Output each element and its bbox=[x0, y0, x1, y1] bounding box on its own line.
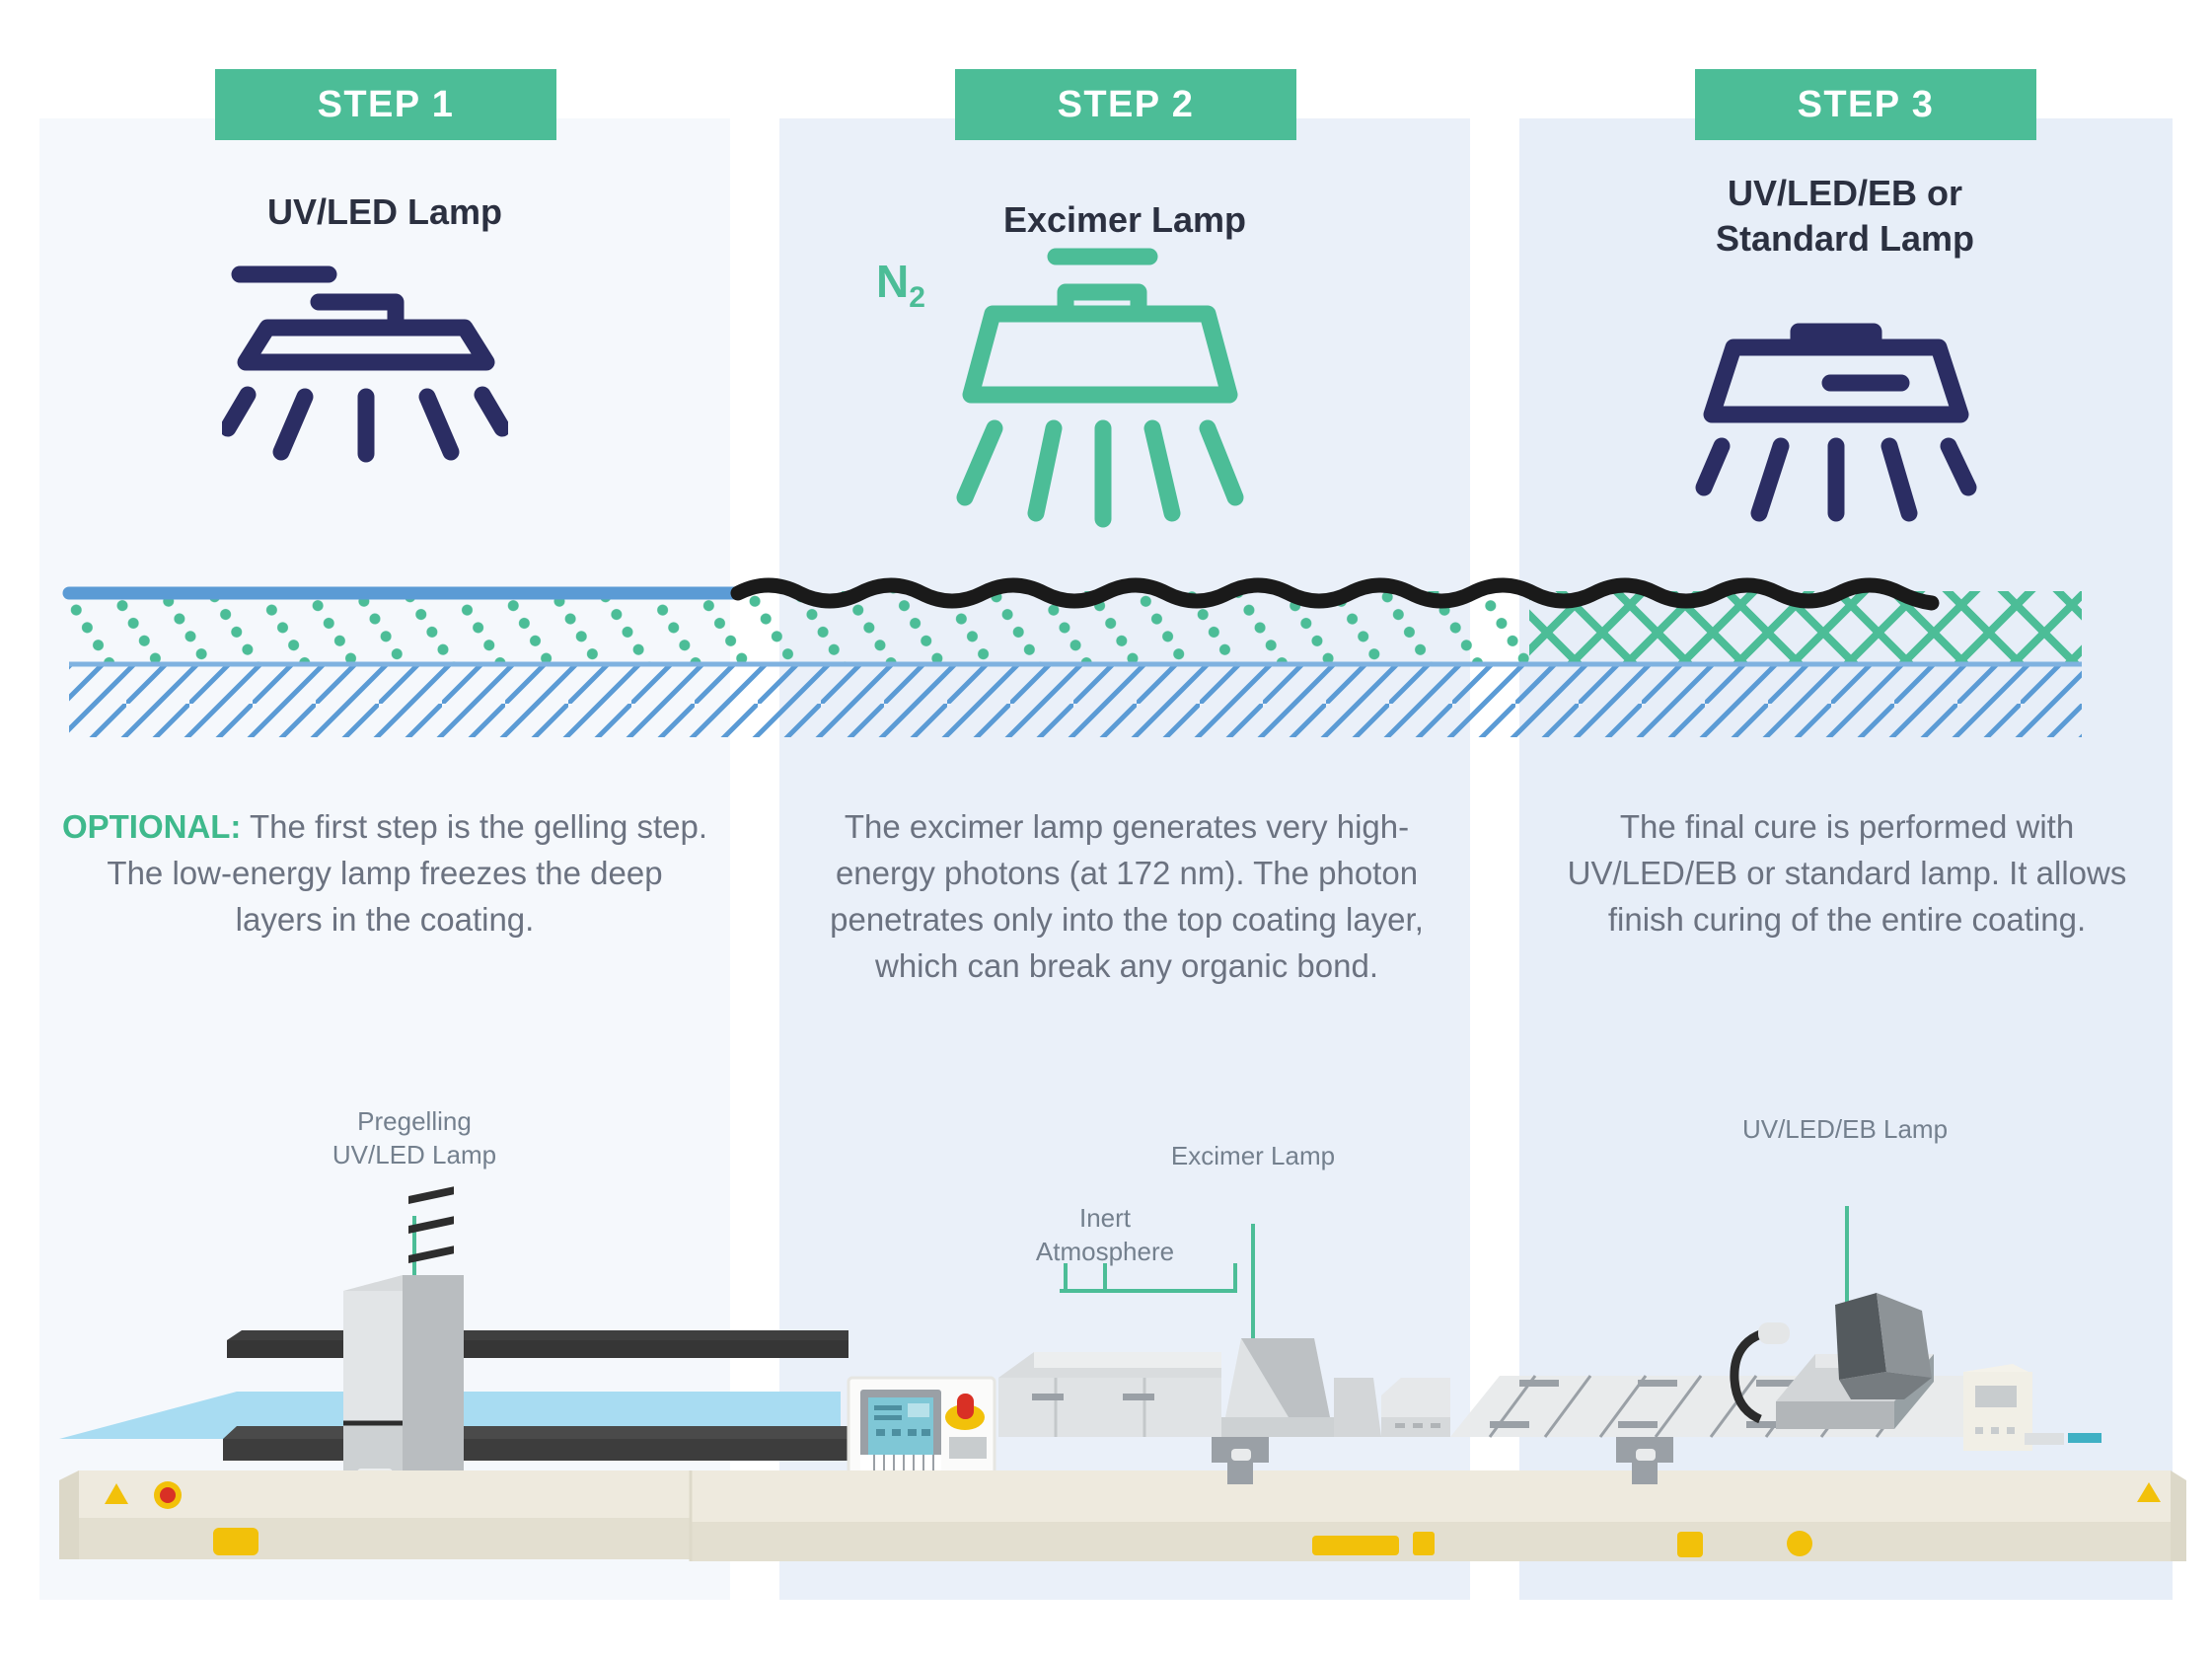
uv-led-eb-lamp-icon bbox=[1692, 308, 1988, 550]
yellow-indicator bbox=[213, 1528, 258, 1555]
production-line-illustration bbox=[0, 1184, 2212, 1599]
optional-label: OPTIONAL: bbox=[62, 808, 241, 845]
infographic-root: STEP 1 STEP 2 STEP 3 UV/LED Lamp Excimer… bbox=[0, 0, 2212, 1659]
pregelling-lamp-head bbox=[343, 1186, 464, 1490]
uv-led-lamp-icon bbox=[222, 259, 508, 490]
callout-pregelling-line1: Pregelling bbox=[357, 1106, 472, 1136]
step-3-description: The final cure is performed with UV/LED/… bbox=[1531, 804, 2163, 943]
nitrogen-gas-label: N2 bbox=[876, 255, 925, 315]
inert-atmosphere-chamber bbox=[998, 1352, 1221, 1437]
step-2-heading: Excimer Lamp bbox=[779, 197, 1470, 243]
callout-uv-led-eb-lamp: UV/LED/EB Lamp bbox=[1658, 1113, 2032, 1147]
step-3-heading: UV/LED/EB orStandard Lamp bbox=[1500, 171, 2190, 262]
callout-pregelling-line2: UV/LED Lamp bbox=[332, 1140, 496, 1169]
callout-pregelling-lamp: Pregelling UV/LED Lamp bbox=[247, 1105, 582, 1172]
step-2-badge: STEP 2 bbox=[955, 69, 1296, 140]
step-2-description: The excimer lamp generates very high-ene… bbox=[801, 804, 1452, 989]
step-1-description: OPTIONAL: The first step is the gelling … bbox=[59, 804, 710, 943]
uv-led-eb-lamp-head bbox=[1835, 1293, 1932, 1399]
panel-keypad bbox=[860, 1455, 941, 1470]
excimer-lamp-icon bbox=[949, 239, 1245, 540]
coating-cross-section-diagram bbox=[0, 577, 2212, 775]
end-cabinet bbox=[1963, 1364, 2101, 1451]
step-1-heading: UV/LED Lamp bbox=[39, 189, 730, 235]
step-1-badge: STEP 1 bbox=[215, 69, 556, 140]
excimer-lamp-housing bbox=[1221, 1338, 1381, 1437]
callout-excimer-lamp: Excimer Lamp bbox=[1095, 1140, 1411, 1173]
step-3-badge: STEP 3 bbox=[1695, 69, 2036, 140]
yellow-indicator-2 bbox=[1312, 1536, 1399, 1555]
